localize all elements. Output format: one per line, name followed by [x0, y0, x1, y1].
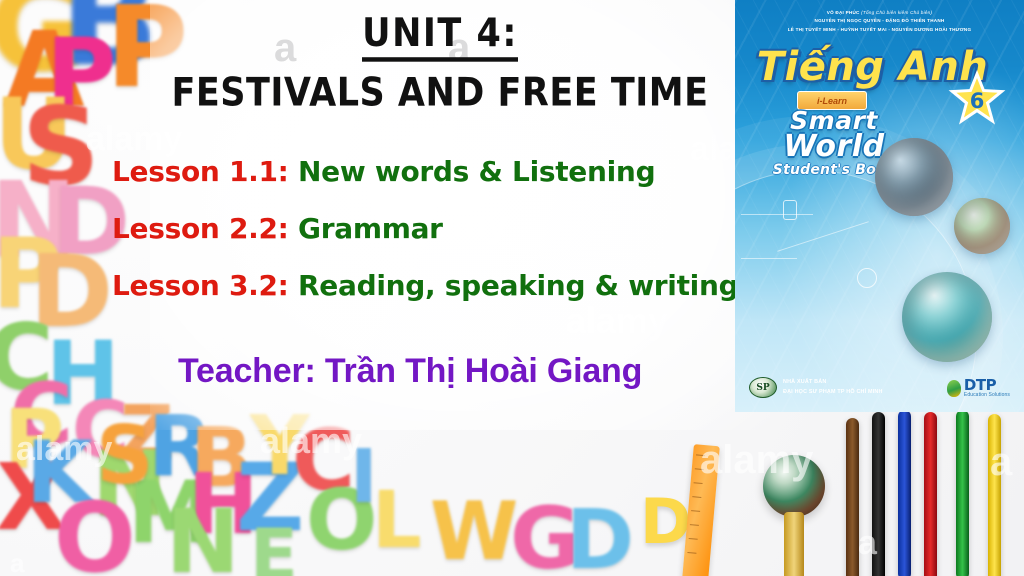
cover-photo-sphere-drone	[875, 138, 953, 216]
publisher-line-2: ĐẠI HỌC SƯ PHẠM TP HỒ CHÍ MINH	[783, 388, 883, 397]
cover-photo-sphere-bay	[902, 272, 992, 362]
lesson-item: Lesson 3.2: Reading, speaking & writing	[112, 269, 752, 302]
publisher-logo-icon: SP	[749, 377, 777, 398]
dtp-text: DTP Education Solutions	[964, 378, 1010, 398]
bg-letter: D	[566, 500, 632, 576]
cover-photo-sphere-seedling	[954, 198, 1010, 254]
lesson-value: Reading, speaking & writing	[298, 269, 738, 302]
lesson-item: Lesson 1.1: New words & Listening	[112, 155, 752, 188]
mobile-device-icon	[783, 200, 797, 220]
grade-number: 6	[970, 89, 985, 113]
lesson-label: Lesson 2.2:	[112, 212, 289, 245]
lesson-item: Lesson 2.2: Grammar	[112, 212, 752, 245]
globe-object	[763, 455, 825, 517]
lesson-value: New words & Listening	[298, 155, 655, 188]
credit-line-1: VÕ ĐẠI PHÚC (Tổng Chủ biên kiêm Chủ biên…	[735, 9, 1024, 17]
cover-network-line	[741, 214, 813, 215]
credit-name: VÕ ĐẠI PHÚC	[827, 10, 860, 15]
lesson-label: Lesson 1.1:	[112, 155, 289, 188]
unit-number: UNIT 4:	[362, 11, 518, 61]
dtp-tagline: Education Solutions	[964, 393, 1010, 398]
dtp-leaf-icon	[947, 380, 961, 397]
page-title: UNIT 4: FESTIVALS AND FREE TIME	[150, 14, 730, 113]
unit-subtitle: FESTIVALS AND FREE TIME	[150, 71, 730, 116]
bg-letter: S	[96, 416, 152, 496]
credit-line-3: LÊ THỊ TUYẾT MINH - HUỲNH TUYẾT MAI - NG…	[735, 26, 1024, 34]
globe-network-icon	[857, 268, 877, 288]
cover-network-line	[741, 258, 797, 259]
bg-letter: O	[54, 490, 134, 576]
distributor-block: DTP Education Solutions	[947, 378, 1010, 398]
cover-author-credits: VÕ ĐẠI PHÚC (Tổng Chủ biên kiêm Chủ biên…	[735, 9, 1024, 34]
textbook-cover-image: VÕ ĐẠI PHÚC (Tổng Chủ biên kiêm Chủ biên…	[735, 0, 1024, 412]
publisher-block: SP NHÀ XUẤT BẢN ĐẠI HỌC SƯ PHẠM TP HỒ CH…	[749, 377, 883, 398]
marker-brown	[846, 418, 859, 576]
bg-letter: E	[250, 520, 296, 576]
dtp-name: DTP	[964, 378, 1010, 393]
globe-stand	[784, 512, 804, 576]
lesson-value: Grammar	[298, 212, 443, 245]
bg-letter: L	[372, 482, 420, 560]
publisher-line-1: NHÀ XUẤT BẢN	[783, 378, 883, 387]
lesson-list: Lesson 1.1: New words & Listening Lesson…	[112, 155, 752, 326]
cover-main-title: Tiếng Anh	[735, 44, 1010, 90]
credit-line-2: NGUYỄN THỊ NGỌC QUYÊN - ĐẶNG ĐỖ THIÊN TH…	[735, 17, 1024, 25]
bg-letter: N	[166, 498, 238, 576]
credit-role: (Tổng Chủ biên kiêm Chủ biên)	[861, 10, 932, 15]
publisher-text: NHÀ XUẤT BẢN ĐẠI HỌC SƯ PHẠM TP HỒ CHÍ M…	[783, 378, 883, 396]
bg-letter: D	[640, 485, 691, 558]
marker-black	[872, 412, 885, 576]
marker-blue	[898, 410, 911, 576]
teacher-credit: Teacher: Trần Thị Hoài Giang	[178, 352, 642, 391]
presentation-slide: G B P A P U S N D P D C H C P C Z X K N …	[0, 0, 1024, 576]
marker-red	[924, 412, 937, 576]
marker-green	[956, 410, 969, 576]
marker-yellow	[988, 414, 1001, 576]
lesson-label: Lesson 3.2:	[112, 269, 289, 302]
bg-letter: W	[430, 492, 517, 572]
